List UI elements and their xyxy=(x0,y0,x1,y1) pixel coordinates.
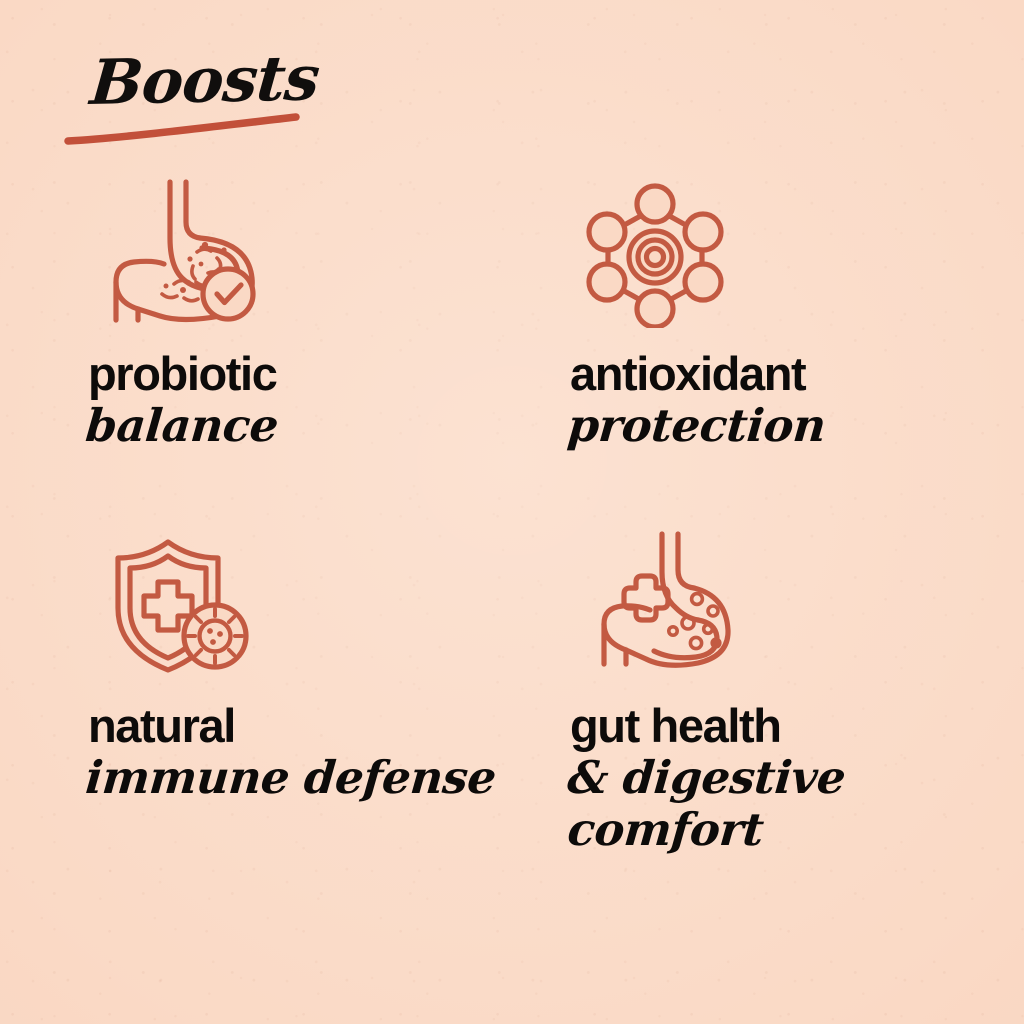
stomach-cross-bubbles-icon xyxy=(580,530,740,680)
feature-card-natural-immune-defense[interactable]: natural immune defense xyxy=(88,530,570,930)
feature-label-group: natural immune defense xyxy=(88,702,498,803)
heading-underline-swoosh xyxy=(64,110,304,150)
feature-card-gut-health-digestive-comfort[interactable]: gut health & digestive comfort xyxy=(570,530,1024,930)
feature-card-probiotic-balance[interactable]: probiotic balance xyxy=(88,178,570,530)
feature-title-primary: gut health xyxy=(570,702,847,749)
feature-label-group: gut health & digestive comfort xyxy=(570,702,847,856)
feature-card-antioxidant-protection[interactable]: antioxidant protection xyxy=(570,178,1024,530)
feature-label-group: probiotic balance xyxy=(88,350,280,451)
heading-block: Boosts xyxy=(88,52,508,162)
stomach-probiotic-check-icon xyxy=(98,178,268,328)
feature-title-script: & digestive xyxy=(566,753,848,803)
antioxidant-molecule-icon xyxy=(580,178,730,328)
feature-title-primary: antioxidant xyxy=(570,350,828,397)
shield-cross-germ-icon xyxy=(98,530,263,680)
feature-title-primary: natural xyxy=(88,702,498,749)
feature-title-script-2: comfort xyxy=(566,805,848,855)
feature-title-primary: probiotic xyxy=(88,350,280,397)
feature-title-script: immune defense xyxy=(84,753,498,803)
feature-grid: probiotic balance xyxy=(0,178,1024,998)
feature-title-script: balance xyxy=(84,401,281,451)
page-title: Boosts xyxy=(88,43,514,114)
feature-title-script: protection xyxy=(566,401,828,451)
feature-label-group: antioxidant protection xyxy=(570,350,828,451)
